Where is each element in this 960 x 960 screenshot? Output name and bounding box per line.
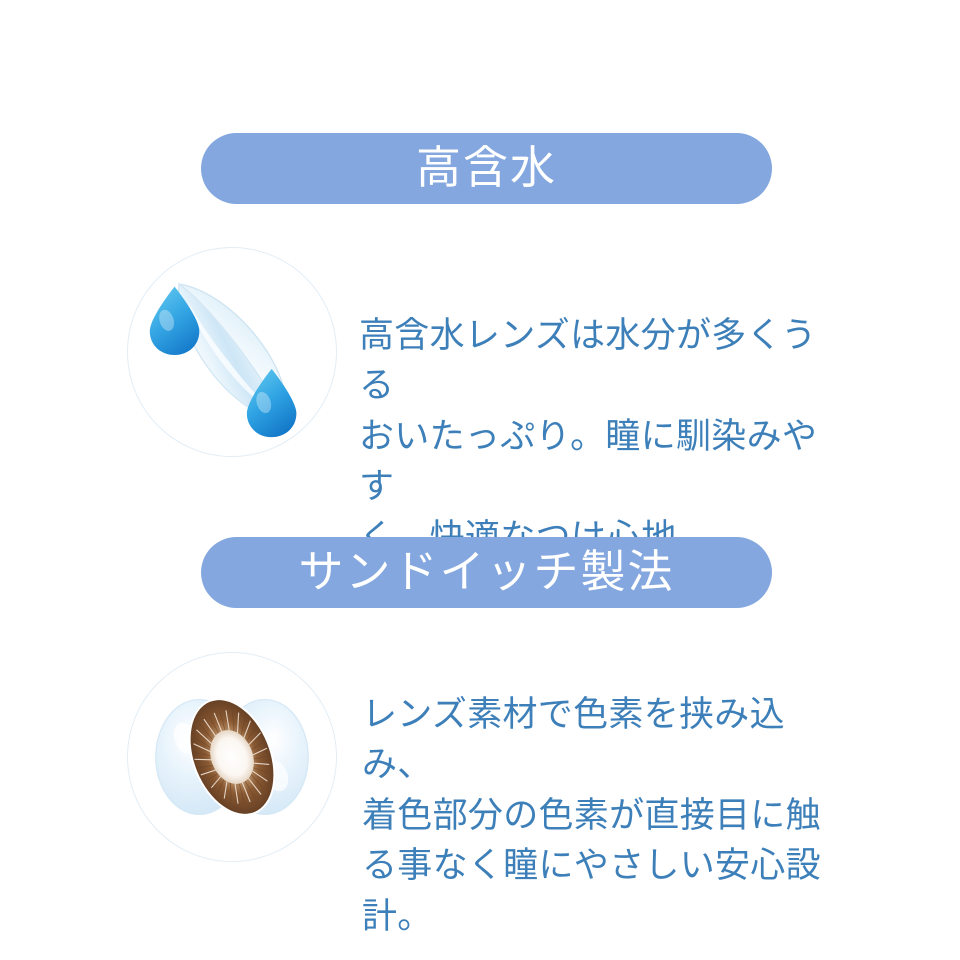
page-root: 高含水 (0, 0, 960, 960)
feature-description-sandwich: レンズ素材で色素を挟み込み、 着色部分の色素が直接目に触 る事なく瞳にやさしい安… (362, 690, 842, 942)
banner-label: サンドイッチ製法 (298, 549, 674, 594)
banner-label: 高含水 (416, 145, 557, 190)
sandwich-lens-layers-icon (127, 652, 337, 862)
section-banner-sandwich: サンドイッチ製法 (201, 537, 772, 608)
section-banner-high-water: 高含水 (201, 133, 772, 204)
feature-description-high-water: 高含水レンズは水分が多くうる おいたっぷり。瞳に馴染みやす く、快適なつけ心地。 (359, 311, 837, 563)
lens-with-water-droplets-icon (127, 247, 337, 457)
